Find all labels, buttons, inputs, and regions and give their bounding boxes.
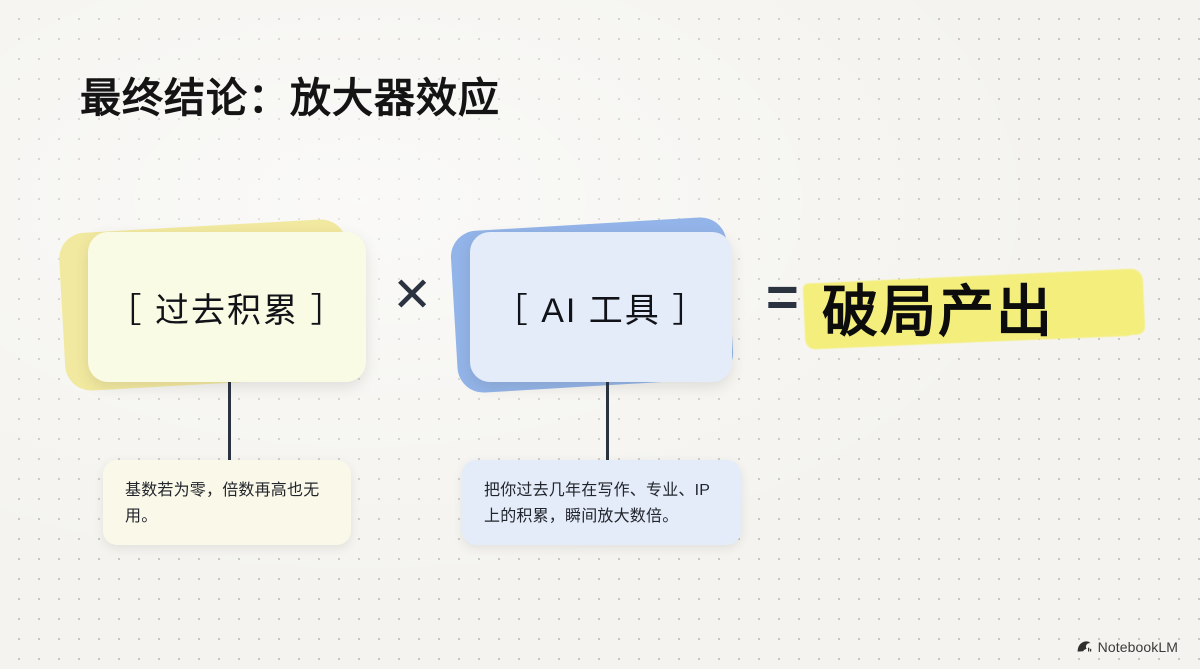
factor-card-ai-tools[interactable]: ［ AI 工具 ］: [470, 232, 732, 382]
connector-line-factor-one: [228, 382, 231, 460]
equals-operator-icon: =: [766, 269, 799, 325]
notebooklm-wordmark: NotebookLM: [1098, 639, 1178, 655]
card-surface: ［ 过去积累 ］: [88, 232, 366, 382]
equation-row: ［ 过去积累 ］ ✕ ［ AI 工具 ］ = 破局产出: [0, 232, 1200, 392]
factor-card-past-accumulation[interactable]: ［ 过去积累 ］: [88, 232, 366, 382]
notebooklm-logo-icon: [1076, 640, 1092, 654]
note-text: 基数若为零，倍数再高也无用。: [125, 478, 329, 530]
notebooklm-watermark: NotebookLM: [1076, 639, 1178, 655]
note-card-past-accumulation: 基数若为零，倍数再高也无用。: [103, 460, 351, 545]
result-label: 破局产出: [822, 267, 1054, 348]
factor-label: ［ 过去积累 ］: [108, 283, 347, 332]
note-card-ai-tools: 把你过去几年在写作、专业、IP 上的积累，瞬间放大数倍。: [462, 460, 741, 545]
note-text: 把你过去几年在写作、专业、IP 上的积累，瞬间放大数倍。: [484, 478, 719, 530]
card-surface: ［ AI 工具 ］: [470, 232, 732, 382]
result-block: 破局产出: [822, 252, 1054, 362]
page-title: 最终结论：放大器效应: [80, 64, 500, 124]
factor-label: ［ AI 工具 ］: [494, 283, 708, 332]
multiply-operator-icon: ✕: [392, 272, 432, 320]
connector-line-factor-two: [606, 382, 609, 460]
